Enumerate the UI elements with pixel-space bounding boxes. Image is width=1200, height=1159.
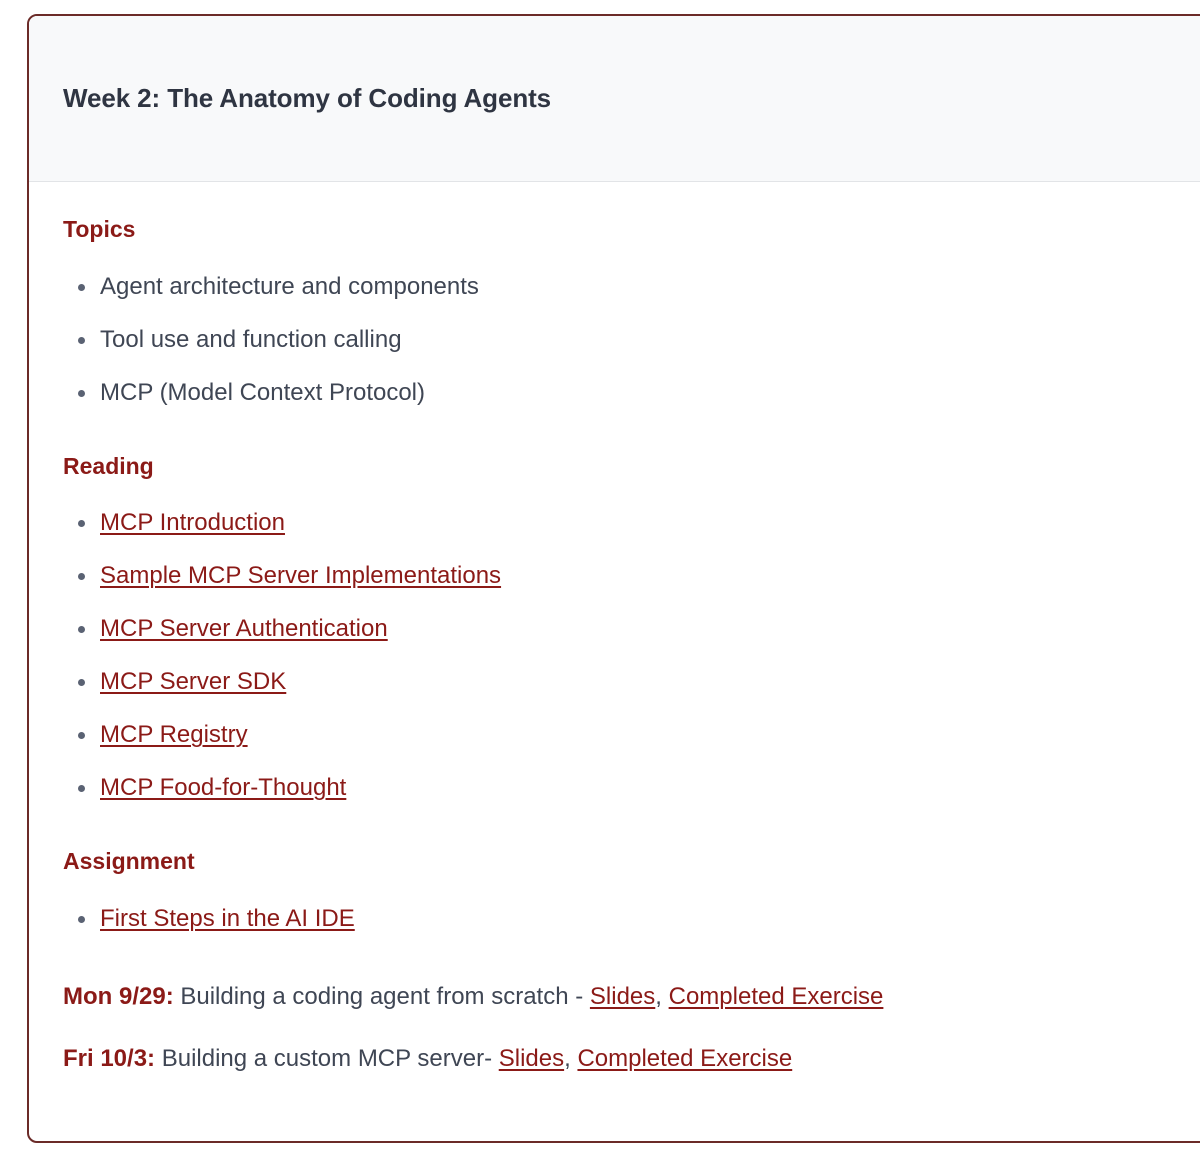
- schedule-date: Fri 10/3:: [63, 1045, 155, 1072]
- page-root: Week 2: The Anatomy of Coding Agents Top…: [0, 0, 1200, 1159]
- reading-link[interactable]: MCP Server SDK: [100, 668, 286, 695]
- schedule-date: Mon 9/29:: [63, 983, 174, 1010]
- list-item: MCP Food-for-Thought: [63, 761, 1183, 814]
- list-item: Tool use and function calling: [63, 313, 1183, 366]
- page-title: Week 2: The Anatomy of Coding Agents: [63, 83, 551, 114]
- list-item: MCP Server Authentication: [63, 602, 1183, 655]
- reading-link[interactable]: MCP Food-for-Thought: [100, 774, 346, 801]
- list-item: MCP Registry: [63, 708, 1183, 761]
- slides-link[interactable]: Slides: [499, 1045, 564, 1072]
- completed-exercise-link[interactable]: Completed Exercise: [669, 983, 884, 1010]
- schedule-separator: ,: [655, 983, 668, 1010]
- reading-link[interactable]: MCP Registry: [100, 721, 248, 748]
- week-card: Week 2: The Anatomy of Coding Agents Top…: [27, 14, 1200, 1143]
- section-heading-assignment: Assignment: [63, 848, 1183, 876]
- assignment-list: First Steps in the AI IDE: [63, 892, 1183, 945]
- list-item: MCP (Model Context Protocol): [63, 366, 1183, 419]
- list-item: MCP Introduction: [63, 496, 1183, 549]
- reading-list: MCP Introduction Sample MCP Server Imple…: [63, 496, 1183, 814]
- topic-label: Agent architecture and components: [100, 273, 479, 300]
- schedule-separator: ,: [564, 1045, 577, 1072]
- topics-list: Agent architecture and components Tool u…: [63, 260, 1183, 419]
- reading-link[interactable]: Sample MCP Server Implementations: [100, 562, 501, 589]
- topic-label: Tool use and function calling: [100, 326, 402, 353]
- slides-link[interactable]: Slides: [590, 983, 655, 1010]
- section-heading-topics: Topics: [63, 216, 1183, 244]
- schedule-description: Building a custom MCP server-: [155, 1045, 499, 1072]
- assignment-link[interactable]: First Steps in the AI IDE: [100, 905, 355, 932]
- schedule-row-monday: Mon 9/29: Building a coding agent from s…: [63, 981, 1183, 1013]
- list-item: First Steps in the AI IDE: [63, 892, 1183, 945]
- topic-label: MCP (Model Context Protocol): [100, 379, 425, 406]
- card-body: Topics Agent architecture and components…: [29, 182, 1200, 1128]
- list-item: Agent architecture and components: [63, 260, 1183, 313]
- reading-link[interactable]: MCP Server Authentication: [100, 615, 388, 642]
- section-heading-reading: Reading: [63, 453, 1183, 481]
- list-item: Sample MCP Server Implementations: [63, 549, 1183, 602]
- reading-link[interactable]: MCP Introduction: [100, 509, 285, 536]
- schedule-row-friday: Fri 10/3: Building a custom MCP server- …: [63, 1043, 1183, 1075]
- card-header: Week 2: The Anatomy of Coding Agents: [29, 16, 1200, 182]
- completed-exercise-link[interactable]: Completed Exercise: [577, 1045, 792, 1072]
- list-item: MCP Server SDK: [63, 655, 1183, 708]
- schedule-description: Building a coding agent from scratch -: [174, 983, 590, 1010]
